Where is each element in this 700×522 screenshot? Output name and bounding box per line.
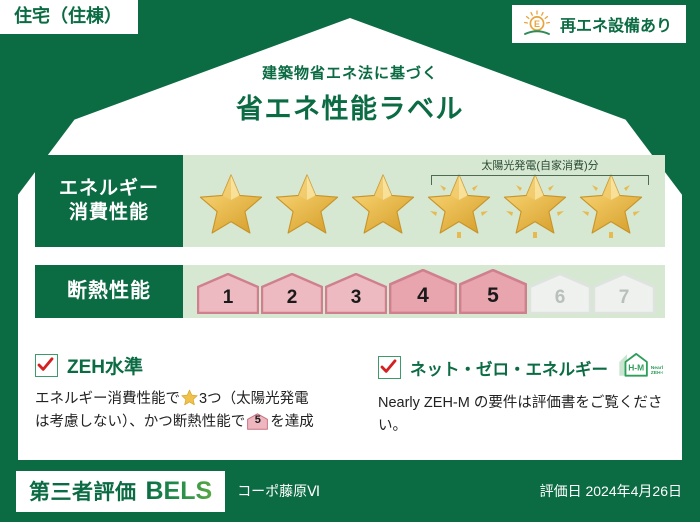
building-name: コーポ藤原Ⅵ bbox=[237, 481, 320, 501]
evaluation-date: 評価日 2024年4月26日 bbox=[540, 481, 682, 501]
title-block: 建築物省エネ法に基づく 省エネ性能ラベル bbox=[0, 62, 700, 126]
energy-label-line2: 消費性能 bbox=[69, 201, 149, 225]
zeh-m-logo-caption1: Nearly bbox=[651, 365, 663, 371]
insulation-level-7: 7 bbox=[593, 273, 655, 314]
net-zero-criteria-column: ネット・ゼロ・エネルギー H-M Nearly ZEH-M Nearly ZEH… bbox=[350, 352, 665, 439]
inline-star-icon bbox=[181, 389, 198, 406]
zeh-m-logo-icon: H-M Nearly ZEH-M bbox=[617, 352, 663, 383]
criteria-columns: ZEH水準 エネルギー消費性能で3つ（太陽光発電は考慮しない）、かつ断熱性能で5… bbox=[35, 352, 665, 439]
zeh-desc-part2: は考慮しない）、かつ断熱性能で bbox=[35, 414, 245, 430]
solar-sun-icon: E bbox=[522, 10, 552, 38]
net-zero-checkbox bbox=[378, 356, 401, 379]
insulation-level-6: 6 bbox=[529, 273, 591, 314]
energy-label-line1: エネルギー bbox=[59, 177, 159, 201]
star-5 bbox=[497, 168, 573, 240]
insulation-level-number: 2 bbox=[287, 287, 298, 314]
zeh-heading: ZEH水準 bbox=[67, 352, 143, 379]
title-main: 省エネ性能ラベル bbox=[0, 87, 700, 126]
insulation-level-1: 1 bbox=[197, 273, 259, 314]
zeh-desc-starcount: 3つ（太陽光発電 bbox=[199, 391, 309, 407]
svg-text:E: E bbox=[534, 19, 540, 29]
insulation-level-number: 6 bbox=[555, 287, 566, 314]
insulation-performance-label: 断熱性能 bbox=[35, 265, 183, 318]
star-2 bbox=[269, 168, 345, 240]
insulation-level-number: 1 bbox=[223, 287, 234, 314]
insulation-level-4: 4 bbox=[389, 269, 457, 314]
energy-performance-label: 住宅（住棟） E 再エネ設備あり 建築物省エネ法に基づく bbox=[0, 0, 700, 522]
energy-performance-row: エネルギー 消費性能 bbox=[35, 155, 665, 247]
insulation-performance-row: 断熱性能 1 2 3 4 5 bbox=[35, 265, 665, 318]
zeh-desc-part1: エネルギー消費性能で bbox=[35, 391, 180, 407]
star-rating bbox=[193, 168, 649, 240]
check-icon bbox=[37, 356, 54, 373]
net-zero-heading-row: ネット・ゼロ・エネルギー H-M Nearly ZEH-M bbox=[378, 352, 665, 383]
insulation-level-number: 4 bbox=[417, 284, 429, 314]
insulation-level-number: 5 bbox=[487, 284, 499, 314]
star-1 bbox=[193, 168, 269, 240]
bels-badge: 第三者評価 BELS bbox=[16, 471, 225, 512]
check-icon bbox=[380, 358, 397, 375]
energy-performance-label: エネルギー 消費性能 bbox=[35, 155, 183, 247]
star-6 bbox=[573, 168, 649, 240]
insulation-level-scale: 1 2 3 4 5 6 7 bbox=[197, 269, 655, 314]
zeh-heading-row: ZEH水準 bbox=[35, 352, 350, 379]
energy-performance-body: 太陽光発電(自家消費)分 bbox=[183, 155, 665, 247]
renewable-badge-label: 再エネ設備あり bbox=[560, 12, 672, 36]
title-subtitle: 建築物省エネ法に基づく bbox=[0, 62, 700, 83]
star-4 bbox=[421, 168, 497, 240]
category-tag: 住宅（住棟） bbox=[0, 0, 138, 34]
inline-house-number: 5 bbox=[247, 413, 268, 430]
zeh-checkbox bbox=[35, 354, 58, 377]
insulation-level-5: 5 bbox=[459, 269, 527, 314]
inline-house-rank-icon: 5 bbox=[247, 413, 268, 430]
net-zero-heading: ネット・ゼロ・エネルギー bbox=[410, 356, 608, 380]
bels-japanese-label: 第三者評価 bbox=[29, 476, 137, 506]
net-zero-description: Nearly ZEH-M の要件は評価書をご覧ください。 bbox=[378, 392, 665, 439]
insulation-level-number: 3 bbox=[351, 287, 362, 314]
footer: 第三者評価 BELS コーポ藤原Ⅵ 評価日 2024年4月26日 bbox=[0, 460, 700, 522]
star-3 bbox=[345, 168, 421, 240]
zeh-description: エネルギー消費性能で3つ（太陽光発電は考慮しない）、かつ断熱性能で5を達成 bbox=[35, 388, 350, 435]
zeh-m-logo-caption2: ZEH-M bbox=[651, 370, 663, 376]
renewable-equipment-badge: E 再エネ設備あり bbox=[512, 5, 686, 43]
insulation-level-2: 2 bbox=[261, 273, 323, 314]
bels-logo-text: BELS bbox=[146, 477, 213, 506]
zeh-desc-part3: を達成 bbox=[270, 414, 314, 430]
zeh-criteria-column: ZEH水準 エネルギー消費性能で3つ（太陽光発電は考慮しない）、かつ断熱性能で5… bbox=[35, 352, 350, 439]
insulation-level-3: 3 bbox=[325, 273, 387, 314]
insulation-level-number: 7 bbox=[619, 287, 630, 314]
zeh-m-logo-text: H-M bbox=[628, 362, 644, 372]
insulation-performance-body: 1 2 3 4 5 6 7 bbox=[183, 265, 665, 318]
